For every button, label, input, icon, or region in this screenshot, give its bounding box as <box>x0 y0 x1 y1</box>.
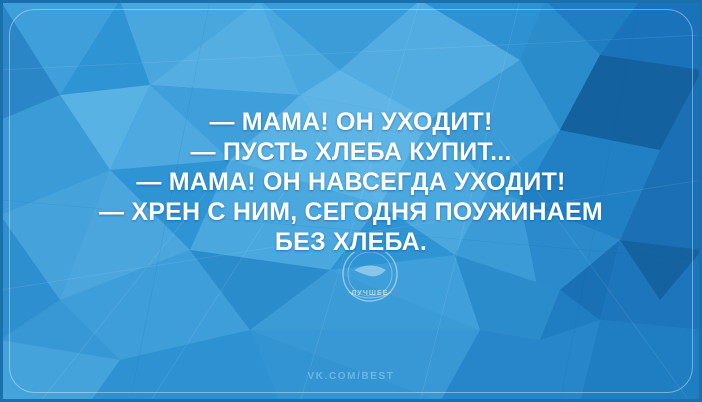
quote-line-4: — ХРЕН С НИМ, СЕГОДНЯ ПОУЖИНАЕМ <box>0 197 702 227</box>
quote-line-1: — МАМА! ОН УХОДИТ! <box>0 107 702 137</box>
site-watermark: VK.COM/BEST <box>0 371 702 382</box>
quote-text-block: — МАМА! ОН УХОДИТ! — ПУСТЬ ХЛЕБА КУПИТ..… <box>0 107 702 257</box>
quote-line-3: — МАМА! ОН НАВСЕГДА УХОДИТ! <box>0 167 702 197</box>
joke-card: — МАМА! ОН УХОДИТ! — ПУСТЬ ХЛЕБА КУПИТ..… <box>0 0 702 402</box>
quote-line-5: БЕЗ ХЛЕБА. <box>0 227 702 257</box>
site-watermark-label: VK.COM/BEST <box>297 371 404 382</box>
quote-line-2: — ПУСТЬ ХЛЕБА КУПИТ... <box>0 137 702 167</box>
